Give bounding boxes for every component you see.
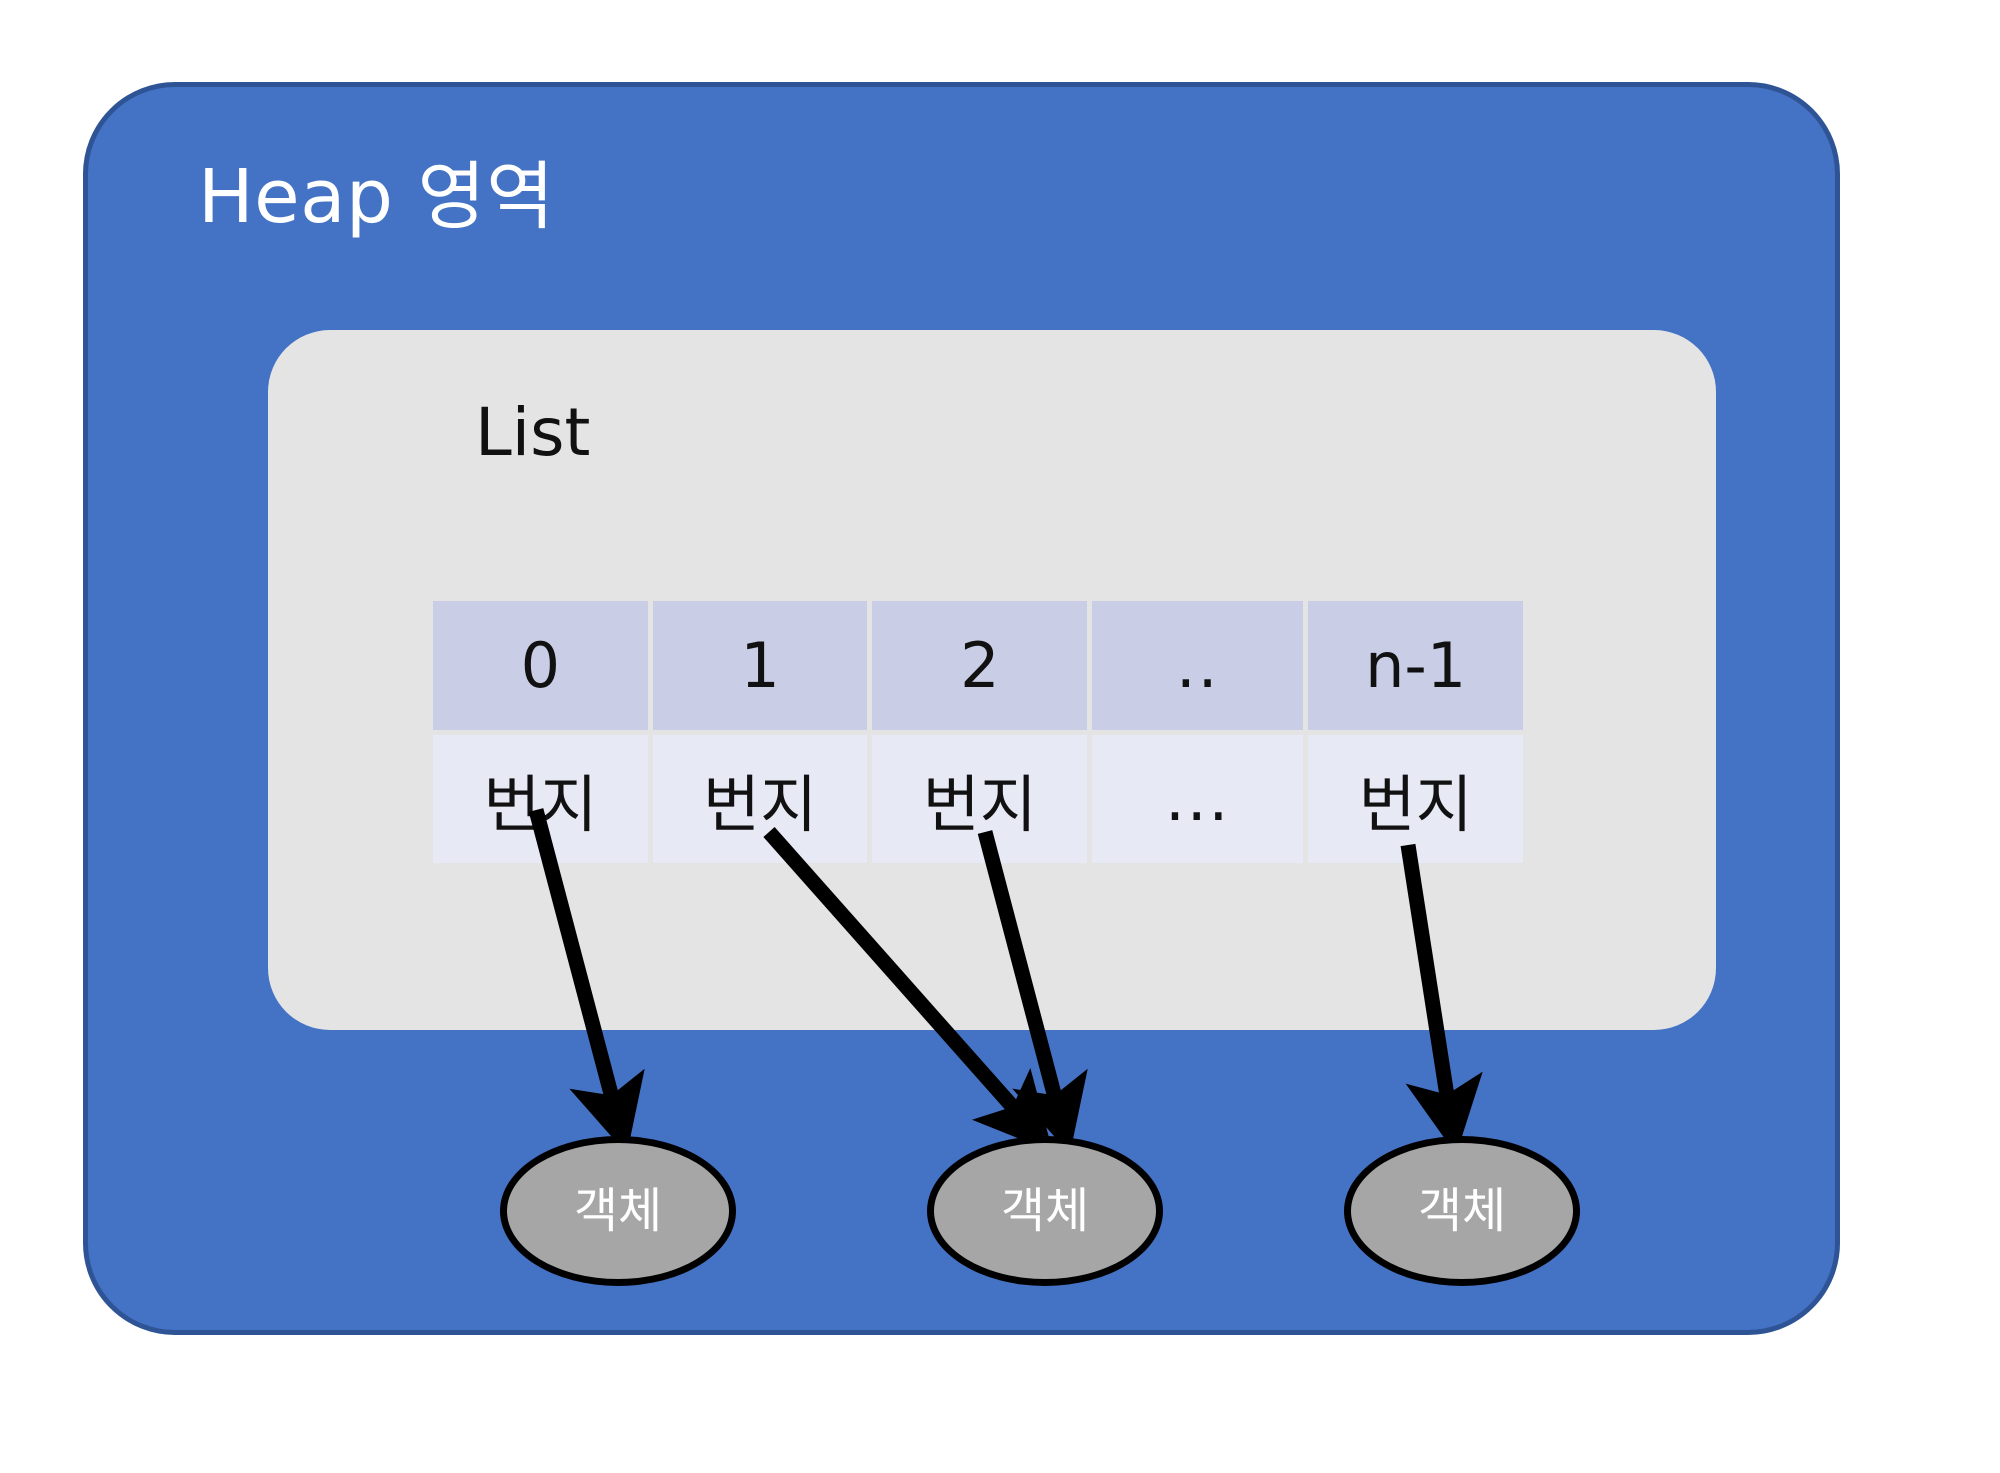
object-node-0: 객체 — [500, 1136, 736, 1286]
object-label: 객체 — [1418, 1187, 1506, 1235]
list-cell-index-1: 1 — [653, 601, 868, 730]
table-row-value: 번지 번지 번지 ... 번지 — [433, 735, 1523, 864]
list-cell-index-3: .. — [1092, 601, 1303, 730]
object-node-2: 객체 — [1344, 1136, 1580, 1286]
object-label: 객체 — [574, 1187, 662, 1235]
list-cell-value-4: 번지 — [1308, 735, 1523, 864]
list-cell-value-0: 번지 — [433, 735, 648, 864]
diagram-canvas: Heap 영역 List 0 1 2 .. n-1 번지 번지 번지 ... 번… — [0, 0, 2000, 1473]
list-cell-index-4: n-1 — [1308, 601, 1523, 730]
list-cell-value-3: ... — [1092, 735, 1303, 864]
heap-region-title: Heap 영역 — [198, 160, 555, 234]
object-node-1: 객체 — [927, 1136, 1163, 1286]
object-label: 객체 — [1001, 1187, 1089, 1235]
list-array-table: 0 1 2 .. n-1 번지 번지 번지 ... 번지 — [428, 596, 1528, 868]
list-cell-value-2: 번지 — [872, 735, 1087, 864]
list-title: List — [475, 400, 590, 466]
table-row-index: 0 1 2 .. n-1 — [433, 601, 1523, 730]
list-cell-index-0: 0 — [433, 601, 648, 730]
list-cell-value-1: 번지 — [653, 735, 868, 864]
list-cell-index-2: 2 — [872, 601, 1087, 730]
